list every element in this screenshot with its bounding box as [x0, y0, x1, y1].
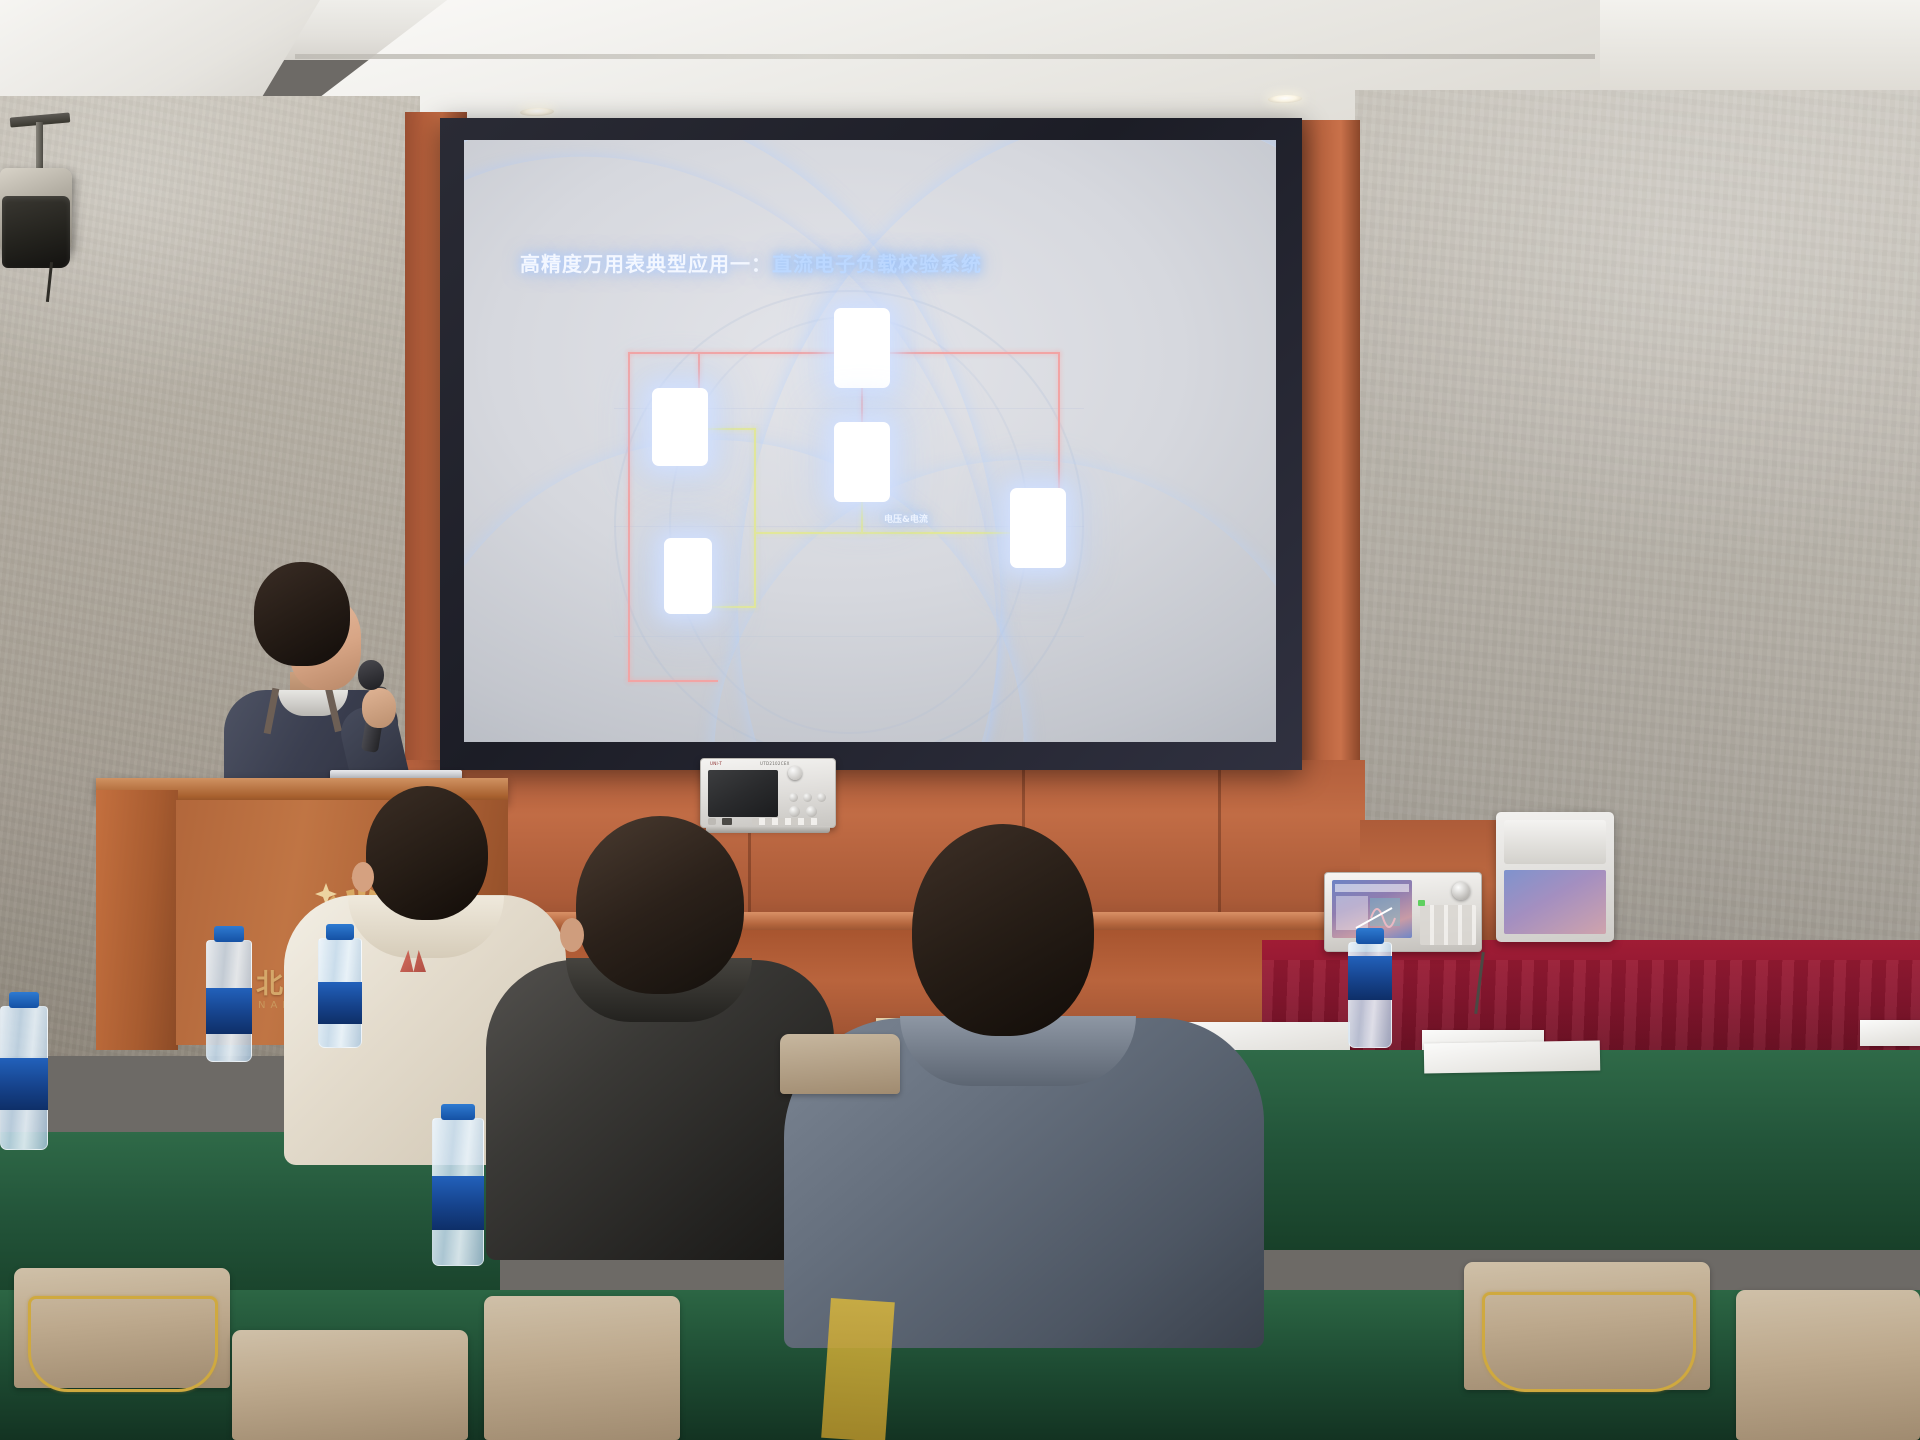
audience-3-stripe	[821, 1298, 895, 1440]
wire-signal-main	[754, 532, 1054, 534]
bottle-cap	[9, 992, 40, 1008]
scope-knob[interactable]	[789, 793, 798, 802]
bottle-cap	[441, 1104, 474, 1120]
paper-sheet	[1424, 1040, 1600, 1073]
fgen-indicator-green	[1418, 900, 1425, 906]
scope-usb-port[interactable]	[722, 818, 732, 825]
audience-1-ear	[352, 862, 374, 892]
oscilloscope-base	[706, 826, 830, 833]
slide-title: 高精度万用表典型应用一：直流电子负载校验系统	[520, 248, 982, 277]
wire-signal-h1	[704, 428, 756, 430]
scope-knob[interactable]	[789, 806, 800, 817]
paper-sheet	[1860, 1020, 1920, 1046]
diagram-node-top-center	[834, 308, 890, 388]
wire-power-bottom	[628, 680, 718, 682]
scope-knob-large[interactable]	[788, 766, 802, 780]
chair[interactable]	[484, 1296, 680, 1440]
wire-signal-v1	[754, 428, 756, 608]
diagram-node-mid-center	[834, 422, 890, 502]
scope-bnc-row[interactable]	[752, 818, 818, 825]
bottle-cap	[1356, 928, 1384, 944]
audience-3-head	[912, 824, 1094, 1036]
scope-knob[interactable]	[817, 793, 826, 802]
diagram-node-left-lower	[664, 538, 712, 614]
bottle-label	[1348, 956, 1392, 1000]
audience-2-head	[576, 816, 744, 994]
wire-signal-down	[861, 500, 863, 534]
scope-knob[interactable]	[806, 806, 817, 817]
oscilloscope-model-label: UTD2102CEX	[760, 761, 790, 766]
bottle-label	[432, 1176, 484, 1230]
chair[interactable]	[1736, 1290, 1920, 1440]
water-bottle[interactable]	[0, 992, 48, 1150]
diagram-node-right	[1010, 488, 1066, 568]
chair[interactable]	[780, 1034, 900, 1094]
right-monitor-display	[1504, 870, 1606, 934]
presenter-head	[254, 562, 350, 666]
water-bottle[interactable]	[318, 924, 362, 1048]
microphone-icon	[358, 660, 384, 690]
conference-room-photo: 高精度万用表典型应用一：直流电子负载校验系统 电压&电流	[0, 0, 1920, 1440]
slide-bg-ring	[614, 636, 1084, 638]
scope-power-button[interactable]	[708, 818, 716, 825]
slide-title-part2: 直流电子负载校验系统	[772, 252, 982, 276]
soffit-edge	[295, 54, 1595, 59]
bottle-label	[206, 988, 252, 1034]
table-green-right	[1190, 1050, 1920, 1250]
speaker-grille-icon	[2, 196, 70, 268]
podium-side	[96, 790, 178, 1050]
water-bottle[interactable]	[1348, 928, 1392, 1048]
diagram-node-left-upper	[652, 388, 708, 466]
bottle-cap	[326, 924, 354, 940]
bottle-label	[0, 1058, 48, 1110]
oscilloscope-display	[708, 770, 778, 817]
audience-2-ear	[560, 918, 584, 952]
water-bottle[interactable]	[206, 926, 252, 1062]
fgen-knob[interactable]	[1452, 882, 1470, 900]
fgen-keypad[interactable]	[1420, 905, 1476, 945]
wire-power-left	[628, 352, 630, 682]
chair-gold-frame	[1482, 1292, 1696, 1392]
bottle-label	[318, 982, 362, 1024]
bottle-cap	[214, 926, 243, 942]
projection-screen: 高精度万用表典型应用一：直流电子负载校验系统 电压&电流	[440, 118, 1302, 770]
oscilloscope-brand-label: UNI-T	[710, 761, 722, 766]
wire-label-voltage-current: 电压&电流	[884, 512, 928, 525]
water-bottle[interactable]	[432, 1104, 484, 1266]
monitor-bezel-strip	[1504, 820, 1606, 864]
audience-1-head	[366, 786, 488, 920]
chair-gold-frame	[28, 1296, 218, 1392]
scope-knob[interactable]	[803, 793, 812, 802]
slide-title-part1: 高精度万用表典型应用一：	[520, 252, 772, 276]
presenter-hand	[362, 688, 396, 728]
chair[interactable]	[232, 1330, 468, 1440]
slide-surface: 高精度万用表典型应用一：直流电子负载校验系统 电压&电流	[464, 140, 1276, 742]
